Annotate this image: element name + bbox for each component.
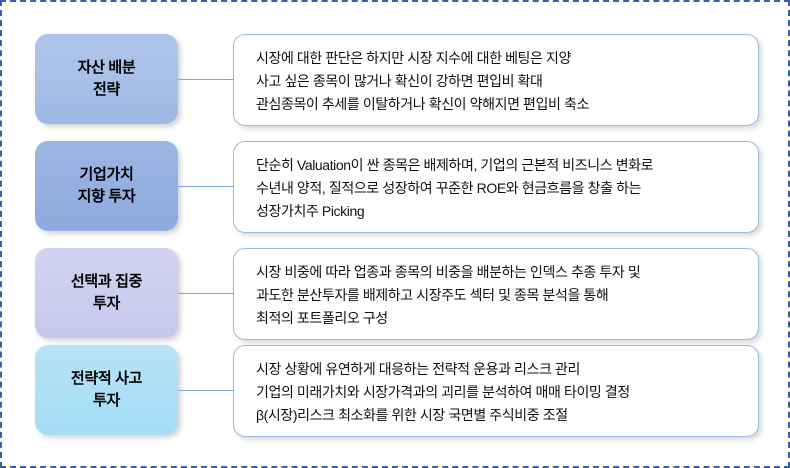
strategy-box-label-line: 투자 — [71, 390, 142, 412]
strategy-box-selection-concentration[interactable]: 선택과 집중 투자 — [35, 248, 178, 338]
connector-line-3 — [178, 293, 234, 294]
strategy-box-label-line: 자산 배분 — [78, 57, 136, 79]
strategy-box-strategic-thinking[interactable]: 전략적 사고 투자 — [35, 345, 178, 435]
strategy-box-label-line: 기업가치 — [78, 164, 136, 186]
detail-line: 최적의 포트폴리오 구성 — [256, 307, 758, 330]
connector-line-1 — [178, 79, 234, 80]
detail-line: 수년내 양적, 질적으로 성장하여 꾸준한 ROE와 현금흐름을 창출 하는 — [256, 177, 758, 200]
connector-line-2 — [178, 186, 234, 187]
detail-panel-selection-concentration: 시장 비중에 따라 업종과 종목의 비중을 배분하는 인덱스 추종 투자 및 과… — [233, 248, 759, 340]
detail-panel-asset-allocation: 시장에 대한 판단은 하지만 시장 지수에 대한 베팅은 지양 사고 싶은 종목… — [233, 34, 759, 126]
strategy-box-label-line: 전략 — [78, 79, 136, 101]
detail-line: 과도한 분산투자를 배제하고 시장주도 섹터 및 종목 분석을 통해 — [256, 284, 758, 307]
strategy-box-label-line: 투자 — [71, 293, 142, 315]
detail-line: 기업의 미래가치와 시장가격과의 괴리를 분석하여 매매 타이밍 결정 — [256, 381, 758, 404]
strategy-box-label-line: 지향 투자 — [78, 186, 136, 208]
detail-line: 성장가치주 Picking — [256, 200, 758, 223]
detail-panel-strategic-thinking: 시장 상황에 유연하게 대응하는 전략적 운용과 리스크 관리 기업의 미래가치… — [233, 345, 759, 437]
detail-line: 시장에 대한 판단은 하지만 시장 지수에 대한 베팅은 지양 — [256, 47, 758, 70]
detail-line: 시장 비중에 따라 업종과 종목의 비중을 배분하는 인덱스 추종 투자 및 — [256, 261, 758, 284]
detail-line: 시장 상황에 유연하게 대응하는 전략적 운용과 리스크 관리 — [256, 358, 758, 381]
detail-line: 단순히 Valuation이 싼 종목은 배제하며, 기업의 근본적 비즈니스 … — [256, 154, 758, 177]
detail-line: 사고 싶은 종목이 많거나 확신이 강하면 편입비 확대 — [256, 70, 758, 93]
detail-panel-corporate-value: 단순히 Valuation이 싼 종목은 배제하며, 기업의 근본적 비즈니스 … — [233, 141, 759, 233]
detail-line: β(시장)리스크 최소화를 위한 시장 국면별 주식비중 조절 — [256, 404, 758, 427]
strategy-box-label-line: 선택과 집중 — [71, 271, 142, 293]
diagram-canvas: 자산 배분 전략 시장에 대한 판단은 하지만 시장 지수에 대한 베팅은 지양… — [0, 0, 790, 468]
connector-line-4 — [178, 390, 234, 391]
strategy-box-asset-allocation[interactable]: 자산 배분 전략 — [35, 34, 178, 124]
detail-line: 관심종목이 추세를 이탈하거나 확신이 약해지면 편입비 축소 — [256, 93, 758, 116]
strategy-box-label-line: 전략적 사고 — [71, 368, 142, 390]
strategy-box-corporate-value[interactable]: 기업가치 지향 투자 — [35, 141, 178, 231]
